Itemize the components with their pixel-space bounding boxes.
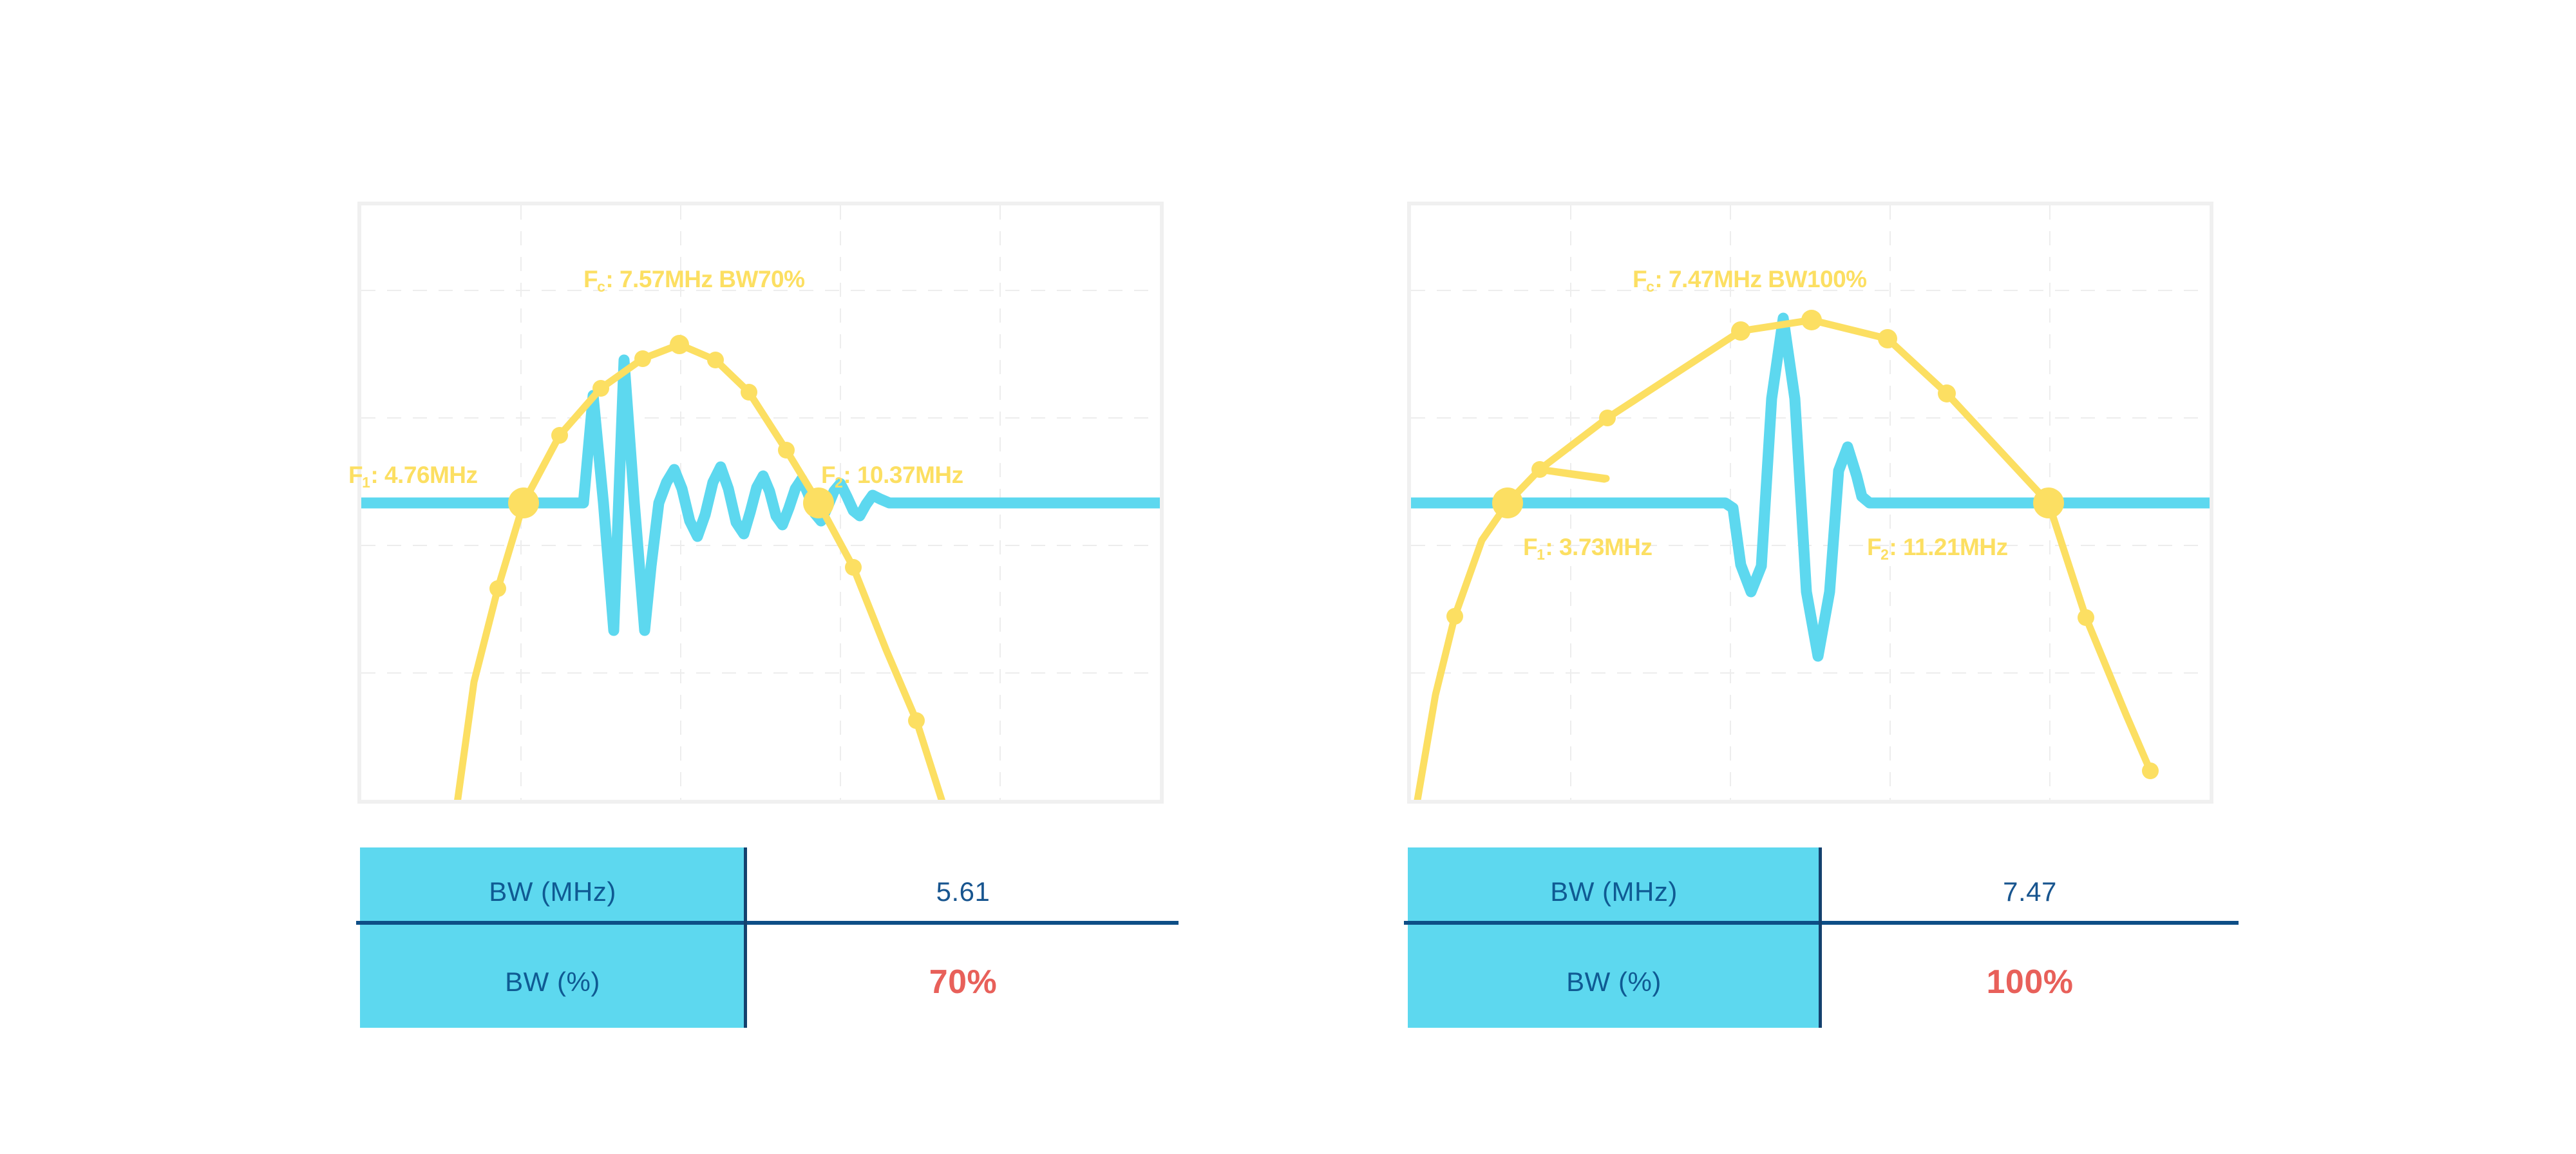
chart-frame-left: Fc: 7.57MHz BW70% F1: 4.76MHz F2: 10.37M…: [357, 202, 1164, 804]
bw-pct-value-right: 100%: [1820, 936, 2240, 1028]
spectrum-markers-left: [489, 335, 925, 729]
bw-pct-value-left: 70%: [745, 936, 1181, 1028]
annotation-center-right: Fc: 7.47MHz BW100%: [1633, 267, 1867, 291]
figure-root: Fc: 7.57MHz BW70% F1: 4.76MHz F2: 10.37M…: [0, 0, 2576, 1154]
chart-frame-right: Fc: 7.47MHz BW100% F1: 3.73MHz F2: 11.21…: [1407, 202, 2213, 804]
table-row: BW (%) 100%: [1408, 936, 2240, 1028]
annotation-f2-right: F2: 11.21MHz: [1867, 535, 2008, 559]
panel-left: Fc: 7.57MHz BW70% F1: 4.76MHz F2: 10.37M…: [0, 0, 1288, 1154]
annotation-center-left: Fc: 7.57MHz BW70%: [583, 267, 805, 291]
pulse-waveform-right: [1411, 318, 2210, 656]
table-column-divider-left: [744, 847, 747, 1028]
chart-svg-right: [1411, 205, 2210, 800]
chart-svg-left: [361, 205, 1160, 800]
annotation-f1-left: F1: 4.76MHz: [348, 463, 478, 487]
table-column-divider-right: [1819, 847, 1822, 1028]
annotation-f1-right: F1: 3.73MHz: [1523, 535, 1653, 559]
pulse-waveform-left: [361, 360, 1160, 630]
spectrum-curve-left: [457, 335, 944, 800]
bw-pct-label-right: BW (%): [1408, 936, 1820, 1028]
bw-table-left: BW (MHz) 5.61 BW (%) 70%: [360, 847, 1181, 1028]
bw-pct-label-left: BW (%): [360, 936, 745, 1028]
annotation-f2-left: F2: 10.37MHz: [821, 463, 963, 487]
bw-table-right: BW (MHz) 7.47 BW (%) 100%: [1408, 847, 2240, 1028]
panel-right: Fc: 7.47MHz BW100% F1: 3.73MHz F2: 11.21…: [1288, 0, 2576, 1154]
table-row: BW (%) 70%: [360, 936, 1181, 1028]
table-mid-rule-left: [356, 921, 1179, 925]
